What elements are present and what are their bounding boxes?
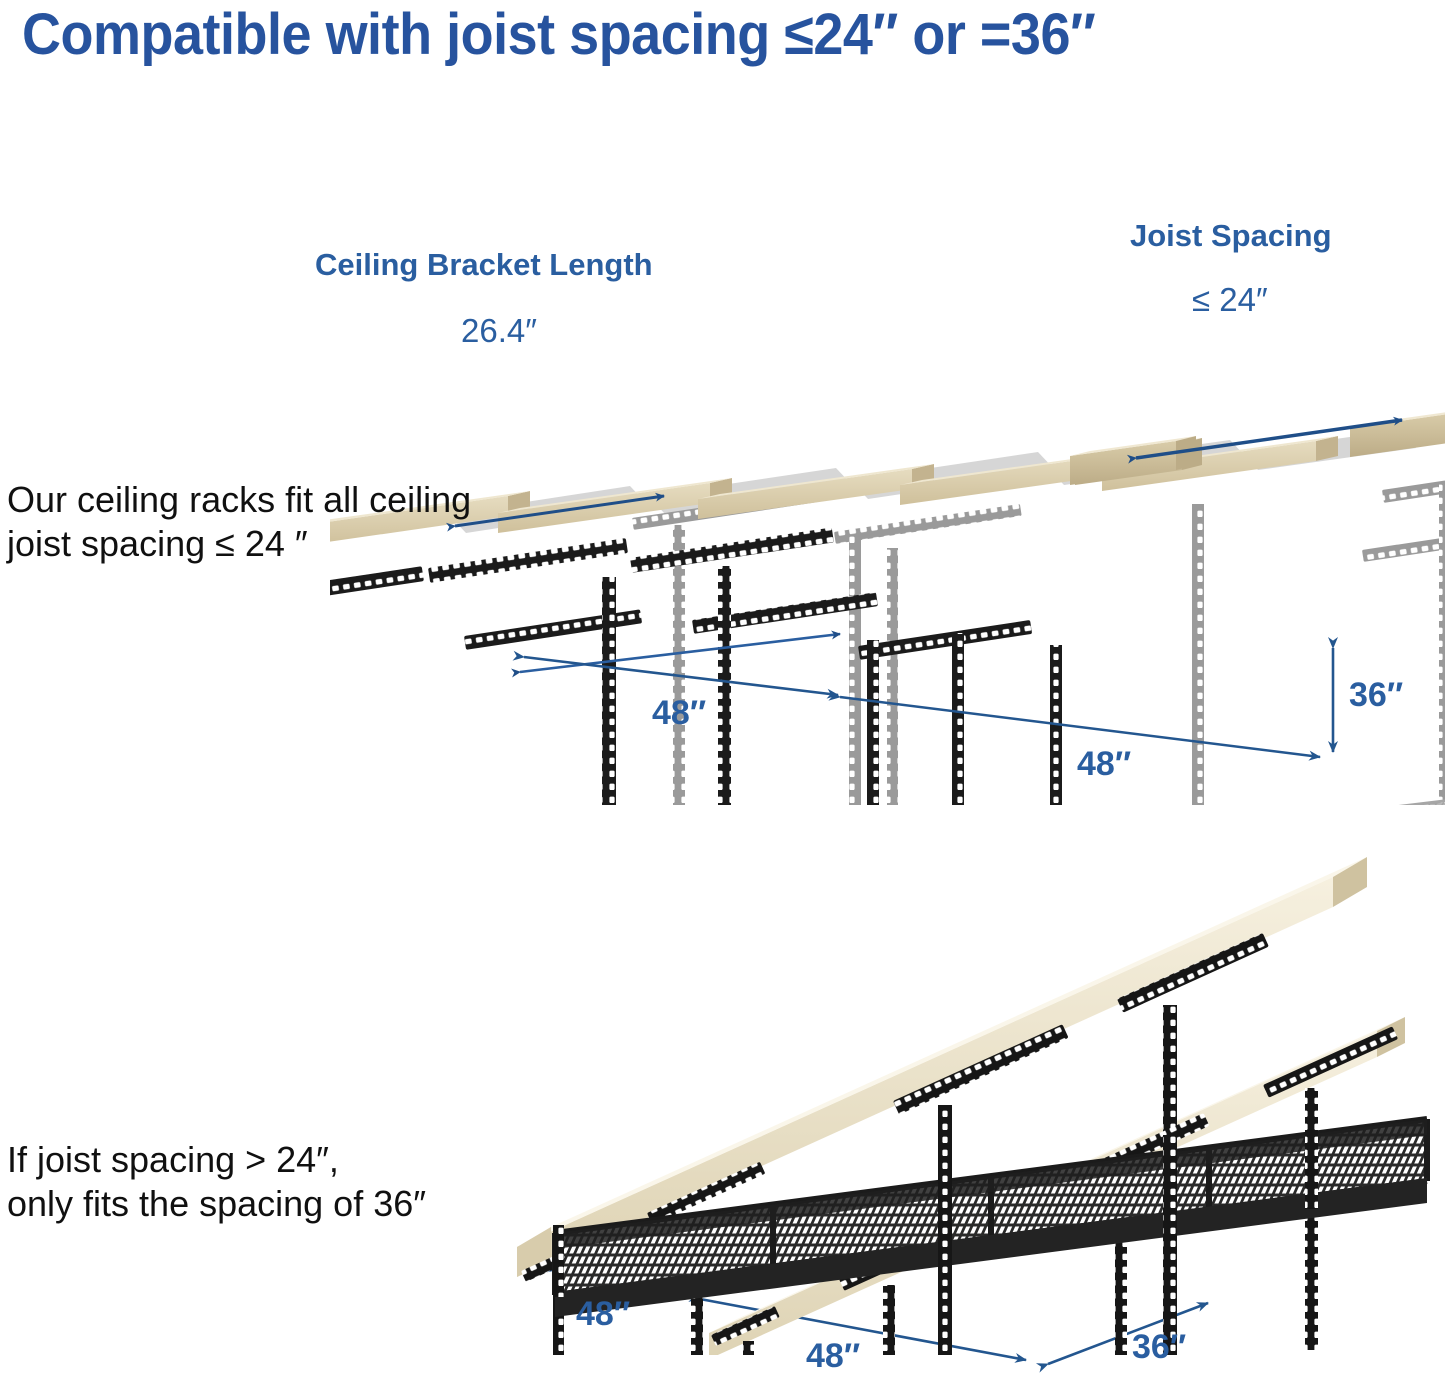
diagram-canvas: Compatible with joist spacing ≤24″ or =3… xyxy=(0,0,1445,1386)
caption-bottom: If joist spacing > 24″, only fits the sp… xyxy=(7,1138,426,1226)
label-top-width-back: 48″ xyxy=(1077,745,1131,784)
top-rack-illustration xyxy=(330,300,1445,805)
label-joist-spacing-value: ≤ 24″ xyxy=(1192,281,1268,319)
label-bottom-width-front: 48″ xyxy=(576,1295,630,1334)
label-bracket-length-value: 26.4″ xyxy=(461,312,537,350)
caption-top: Our ceiling racks fit all ceiling joist … xyxy=(7,478,471,566)
label-ceiling-bracket-length: Ceiling Bracket Length xyxy=(315,247,653,283)
label-joist-spacing: Joist Spacing xyxy=(1130,218,1332,254)
joist-right xyxy=(1350,408,1445,457)
black-rack-assembly xyxy=(330,527,1062,805)
label-top-width-front: 48″ xyxy=(652,694,706,733)
label-bottom-width-back: 48″ xyxy=(806,1337,860,1376)
label-top-height: 36″ xyxy=(1349,676,1403,715)
bottom-rack-illustration xyxy=(495,835,1445,1355)
page-title: Compatible with joist spacing ≤24″ or =3… xyxy=(22,2,1333,70)
joist-spacing-pair xyxy=(1070,408,1445,485)
label-bottom-depth: 36″ xyxy=(1132,1328,1186,1367)
gray-deck xyxy=(450,800,1445,805)
